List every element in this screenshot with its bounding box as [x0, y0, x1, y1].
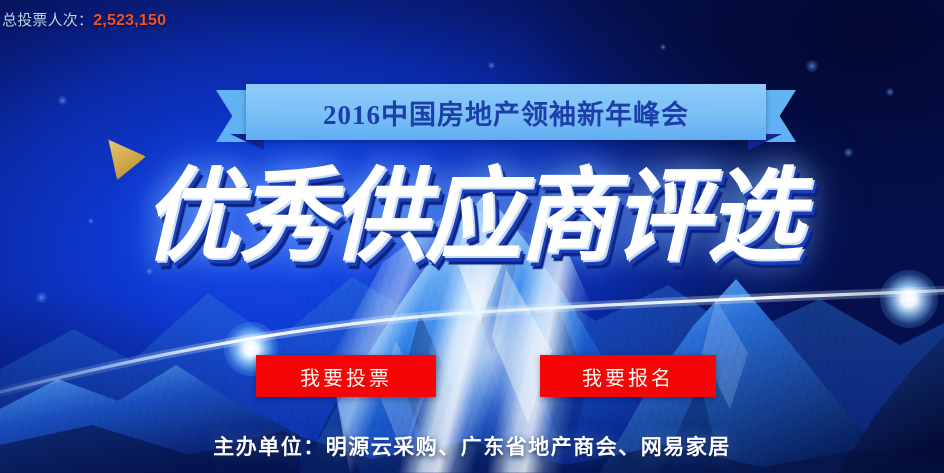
event-ribbon: 2016中国房地产领袖新年峰会 — [216, 84, 796, 148]
vote-counter-label: 总投票人次： — [2, 12, 93, 29]
bokeh-dot — [58, 96, 67, 105]
bokeh-dot — [806, 60, 818, 72]
ribbon-band: 2016中国房地产领袖新年峰会 — [246, 84, 766, 140]
promo-banner: 总投票人次：2,523,150 2016中国房地产领袖新年峰会 优秀供应商评选 … — [0, 0, 944, 473]
bokeh-dot — [488, 62, 495, 69]
page-title: 优秀供应商评选 — [0, 157, 944, 276]
register-button-wrap[interactable]: 我要报名 — [540, 355, 716, 397]
bokeh-dot — [886, 88, 894, 96]
organiser-line: 主办单位：明源云采购、广东省地产商会、网易家居 — [0, 431, 944, 461]
vote-counter-value: 2,523,150 — [93, 12, 166, 29]
register-button[interactable]: 我要报名 — [540, 355, 716, 397]
vote-button[interactable]: 我要投票 — [256, 355, 436, 397]
vote-button-wrap[interactable]: 我要投票 — [256, 355, 436, 397]
bokeh-dot — [660, 44, 666, 50]
vote-counter: 总投票人次：2,523,150 — [2, 11, 166, 30]
event-title: 2016中国房地产领袖新年峰会 — [323, 93, 689, 132]
light-node-icon — [880, 270, 938, 328]
